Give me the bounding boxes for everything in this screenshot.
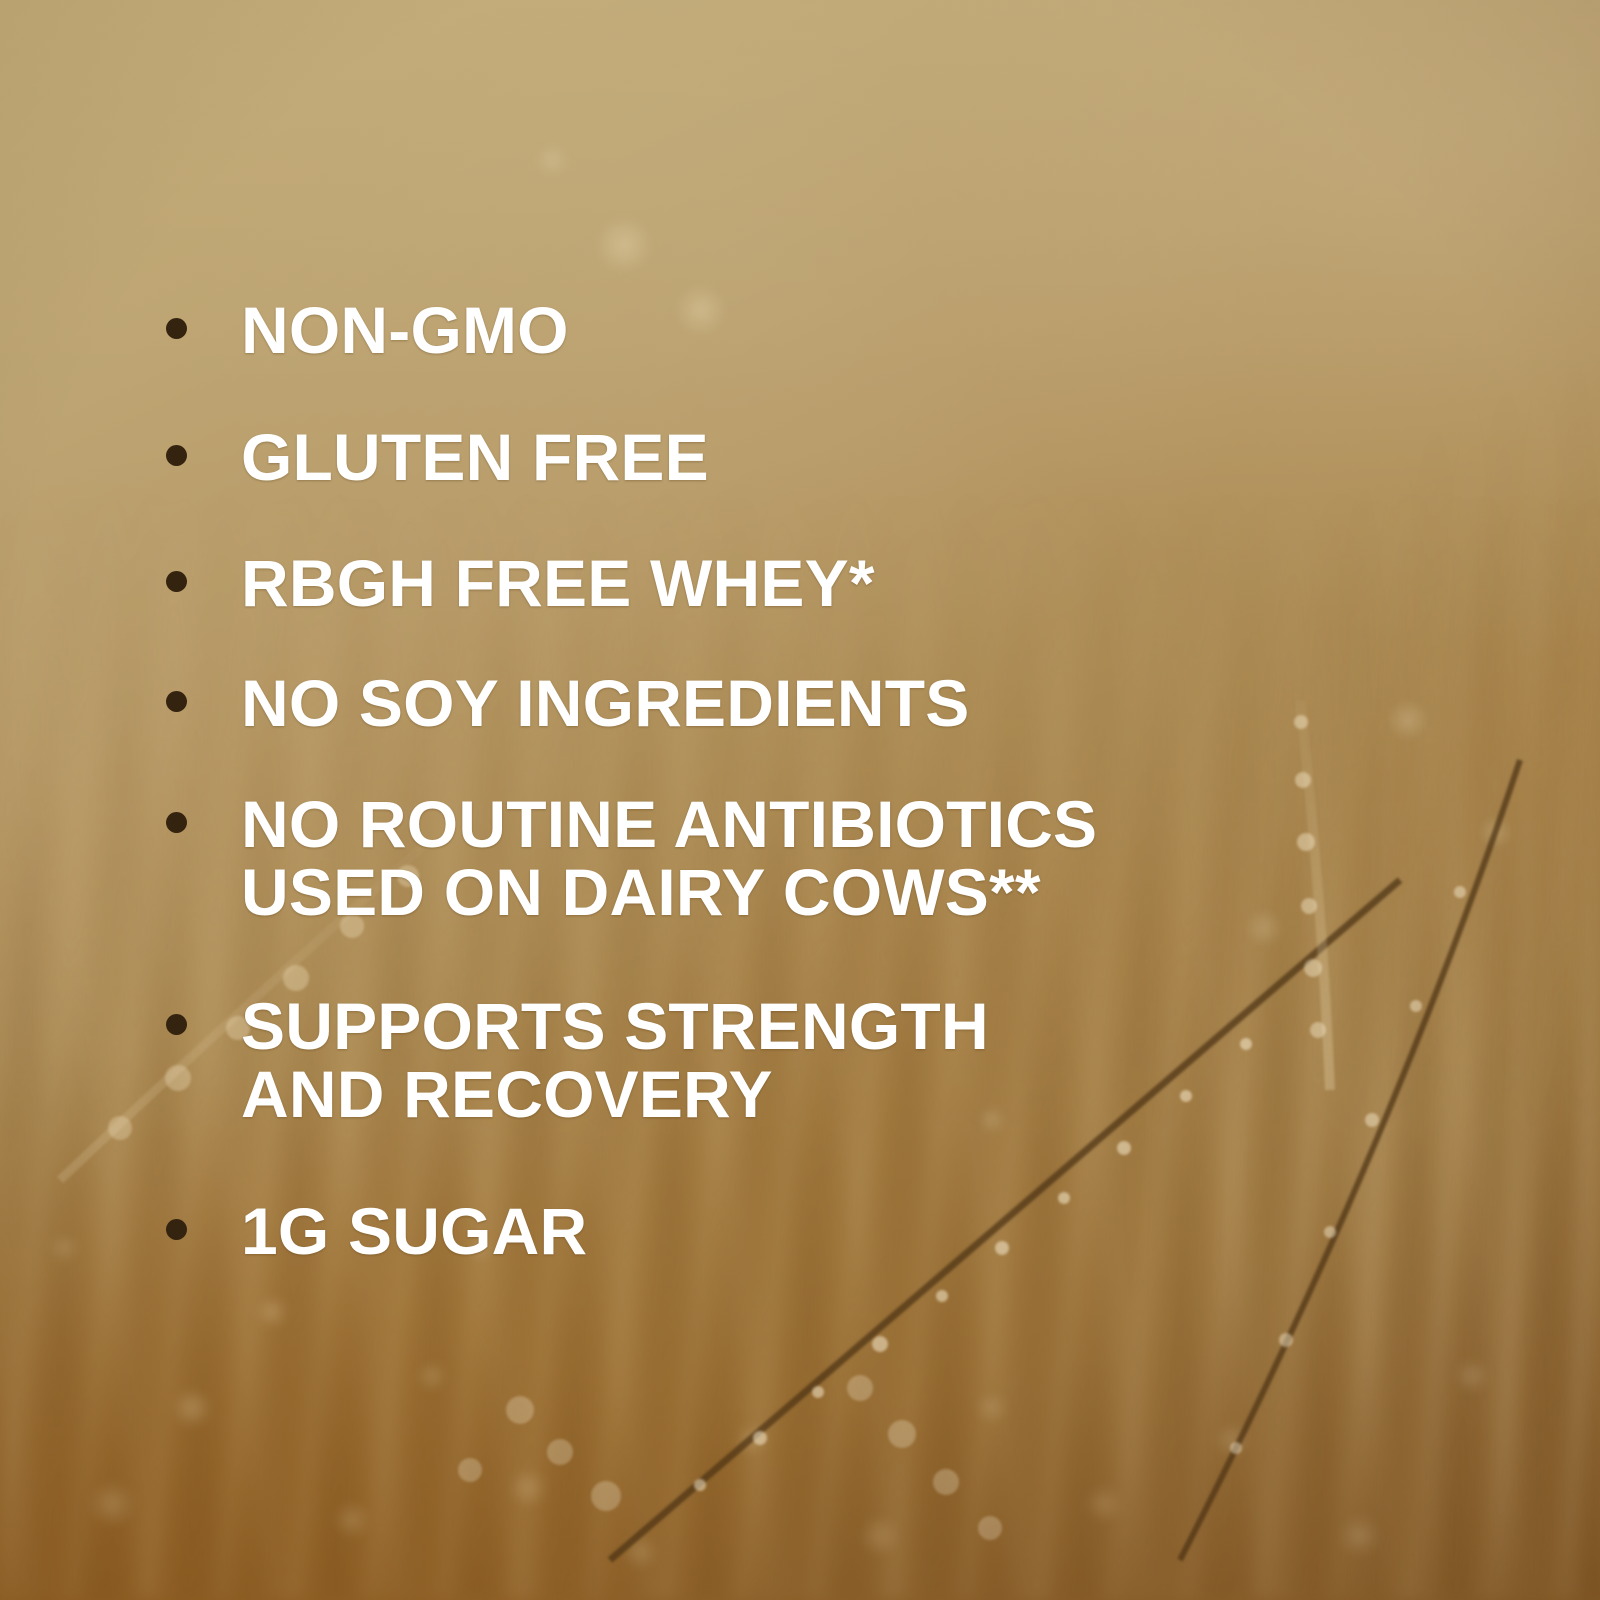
- benefit-label: NO ROUTINE ANTIBIOTICS USED ON DAIRY COW…: [241, 790, 1097, 926]
- benefit-item-no-antibiotics: NO ROUTINE ANTIBIOTICS USED ON DAIRY COW…: [166, 790, 1097, 926]
- benefit-label: GLUTEN FREE: [241, 423, 709, 491]
- benefit-item-1g-sugar: 1G SUGAR: [166, 1197, 587, 1265]
- bullet-point-icon: [166, 812, 187, 833]
- benefit-label: NO SOY INGREDIENTS: [241, 669, 970, 737]
- bullet-point-icon: [166, 445, 187, 466]
- bullet-point-icon: [166, 691, 187, 712]
- benefit-item-no-soy: NO SOY INGREDIENTS: [166, 669, 970, 737]
- bullet-point-icon: [166, 571, 187, 592]
- benefit-label: SUPPORTS STRENGTH AND RECOVERY: [241, 992, 989, 1128]
- benefit-item-supports-strength: SUPPORTS STRENGTH AND RECOVERY: [166, 992, 989, 1128]
- product-benefits-panel: NON-GMO GLUTEN FREE RBGH FREE WHEY* NO S…: [0, 0, 1600, 1600]
- benefit-label: 1G SUGAR: [241, 1197, 587, 1265]
- benefit-label: RBGH FREE WHEY*: [241, 549, 875, 617]
- bullet-point-icon: [166, 1219, 187, 1240]
- benefits-list: NON-GMO GLUTEN FREE RBGH FREE WHEY* NO S…: [0, 0, 1600, 1600]
- benefit-item-non-gmo: NON-GMO: [166, 296, 569, 364]
- benefit-item-gluten-free: GLUTEN FREE: [166, 423, 709, 491]
- benefit-label: NON-GMO: [241, 296, 569, 364]
- benefit-item-rbgh-free-whey: RBGH FREE WHEY*: [166, 549, 875, 617]
- bullet-point-icon: [166, 1014, 187, 1035]
- bullet-point-icon: [166, 318, 187, 339]
